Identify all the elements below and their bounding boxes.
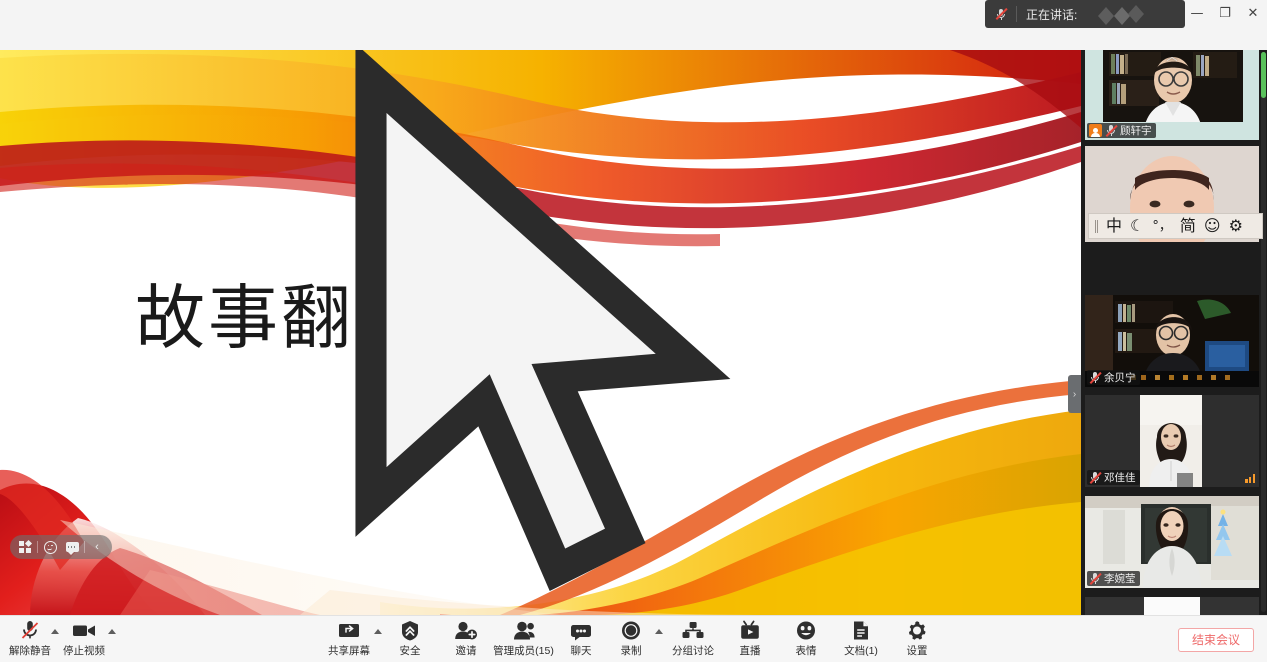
panel-scrollbar[interactable] (1261, 52, 1266, 612)
zoom-meeting-window: 您正在观看吴钰萍的屏幕 正在讲话: — ❐ ✕ i 15:20 演讲者视图 (0, 0, 1267, 662)
divider (1016, 6, 1017, 22)
toolbar-invite-button[interactable]: 邀请 (448, 620, 484, 658)
video-tile-3[interactable]: 邓佳佳 (1085, 395, 1259, 487)
video-tile-0[interactable]: 顾轩宇 ︿ (1085, 50, 1259, 140)
participant-name-badge: 邓佳佳 (1087, 470, 1140, 485)
mic-muted-icon (1089, 572, 1101, 585)
toolbar-label: 解除静音 (9, 643, 51, 658)
restore-button[interactable]: ❐ (1211, 0, 1239, 26)
active-speaker-label: 正在讲话: (1026, 6, 1077, 23)
mic-muted-icon (1105, 124, 1117, 137)
reactions-icon (795, 620, 817, 641)
ime-settings-gear-icon[interactable]: ⚙ (1229, 218, 1243, 234)
ime-moon-icon[interactable]: ☾ (1130, 218, 1144, 234)
window-controls: — ❐ ✕ (1183, 0, 1267, 26)
video-tile-2[interactable]: 余贝宁 (1085, 295, 1259, 387)
divider (84, 541, 85, 553)
divider (37, 541, 38, 553)
toolbar-unmute-button[interactable]: 解除静音 (6, 620, 54, 658)
shared-screen-stage: 故事翻译研讨会 ‹ › (0, 50, 1081, 615)
participant-video-panel: 顾轩宇 ︿ (1081, 50, 1267, 615)
chat-icon (569, 620, 593, 641)
toolbar-stop-video-button[interactable]: 停止视频 (60, 620, 108, 658)
chat-bubble-icon[interactable] (61, 535, 83, 559)
toolbar-label: 表情 (796, 643, 817, 658)
toolbar-security-button[interactable]: 安全 (392, 620, 428, 658)
documents-icon (851, 620, 871, 641)
toolbar-documents-button[interactable]: 文档(1) (836, 620, 886, 658)
end-meeting-button[interactable]: 结束会议 (1178, 628, 1254, 652)
toolbar-breakout-rooms-button[interactable]: 分组讨论 (668, 620, 718, 658)
participant-name: 邓佳佳 (1104, 470, 1136, 485)
video-tile-5[interactable]: ﹀ (1085, 597, 1259, 615)
active-speaker-indicator: 正在讲话: (985, 0, 1185, 28)
participant-name: 顾轩宇 (1120, 123, 1152, 138)
record-icon (620, 620, 642, 641)
participants-icon (512, 620, 536, 641)
toolbar-label: 录制 (621, 643, 642, 658)
live-stream-icon (739, 620, 761, 641)
share-options-caret[interactable] (374, 629, 382, 634)
toolbar-label: 分组讨论 (672, 643, 714, 658)
video-feed (1085, 597, 1259, 615)
network-signal-icon (1245, 474, 1255, 483)
participant-name: 余贝宁 (1104, 370, 1136, 385)
audio-options-caret[interactable] (51, 629, 59, 634)
toolbar-label: 直播 (740, 643, 761, 658)
video-tile-4[interactable]: 李婉莹 (1085, 496, 1259, 588)
settings-gear-icon (906, 620, 928, 641)
ime-mode-chinese[interactable]: 中 (1106, 218, 1122, 234)
reaction-smiley-icon[interactable] (39, 535, 61, 559)
mic-muted-icon (1089, 371, 1101, 384)
logo-mark (1092, 3, 1162, 25)
toolbar-label: 设置 (907, 643, 928, 658)
participant-name-badge: 李婉莹 (1087, 571, 1140, 586)
toolbar-participants-button[interactable]: 管理成员(15) (487, 620, 560, 658)
share-screen-icon (337, 620, 361, 641)
toolbar-share-screen-button[interactable]: 共享屏幕 (325, 620, 373, 658)
participant-name-badge: 余贝宁 (1087, 370, 1140, 385)
toolbar-label: 安全 (400, 643, 421, 658)
toolbar-label: 邀请 (456, 643, 477, 658)
minimize-button[interactable]: — (1183, 0, 1211, 26)
video-camera-icon (71, 620, 97, 641)
toolbar-live-stream-button[interactable]: 直播 (732, 620, 768, 658)
toolbar-label: 停止视频 (63, 643, 105, 658)
ime-toolbar[interactable]: 中 ☾ °， 简 ☺ ⚙ (1088, 213, 1263, 239)
toolbar-label: 管理成员(15) (493, 643, 554, 658)
toolbar-label: 文档(1) (844, 643, 878, 658)
ime-simplified[interactable]: 简 (1180, 218, 1196, 234)
meeting-toolbar: 解除静音 停止视频 共享屏幕 (0, 615, 1267, 662)
toolbar-reactions-button[interactable]: 表情 (788, 620, 824, 658)
mouse-cursor (0, 50, 1081, 615)
annotate-grid-icon[interactable] (14, 535, 36, 559)
close-button[interactable]: ✕ (1239, 0, 1267, 26)
record-options-caret[interactable] (655, 629, 663, 634)
toolbar-label: 共享屏幕 (328, 643, 370, 658)
ime-emoji-icon[interactable]: ☺ (1204, 218, 1221, 234)
chevron-up-icon[interactable]: ︿ (1167, 50, 1178, 64)
video-options-caret[interactable] (108, 629, 116, 634)
participant-name-badge: 顾轩宇 (1087, 123, 1156, 138)
ime-drag-handle[interactable] (1095, 220, 1098, 233)
breakout-rooms-icon (681, 620, 705, 641)
security-shield-icon (400, 620, 420, 641)
participant-name: 李婉莹 (1104, 571, 1136, 586)
mic-muted-icon (1089, 471, 1101, 484)
toolbar-chat-button[interactable]: 聊天 (563, 620, 599, 658)
toolbar-record-button[interactable]: 录制 (613, 620, 649, 658)
mic-muted-icon (19, 620, 41, 641)
mic-muted-icon (995, 8, 1007, 21)
toolbar-settings-button[interactable]: 设置 (899, 620, 935, 658)
invite-user-icon (454, 620, 478, 641)
collapse-chevron-icon[interactable]: ‹ (86, 535, 108, 559)
host-icon (1089, 124, 1102, 137)
annotation-float-toolbar[interactable]: ‹ (10, 535, 112, 559)
ime-punctuation-icon[interactable]: °， (1152, 220, 1172, 233)
panel-collapse-handle[interactable]: › (1068, 375, 1081, 413)
presentation-slide: 故事翻译研讨会 ‹ (0, 50, 1081, 615)
toolbar-label: 聊天 (571, 643, 592, 658)
